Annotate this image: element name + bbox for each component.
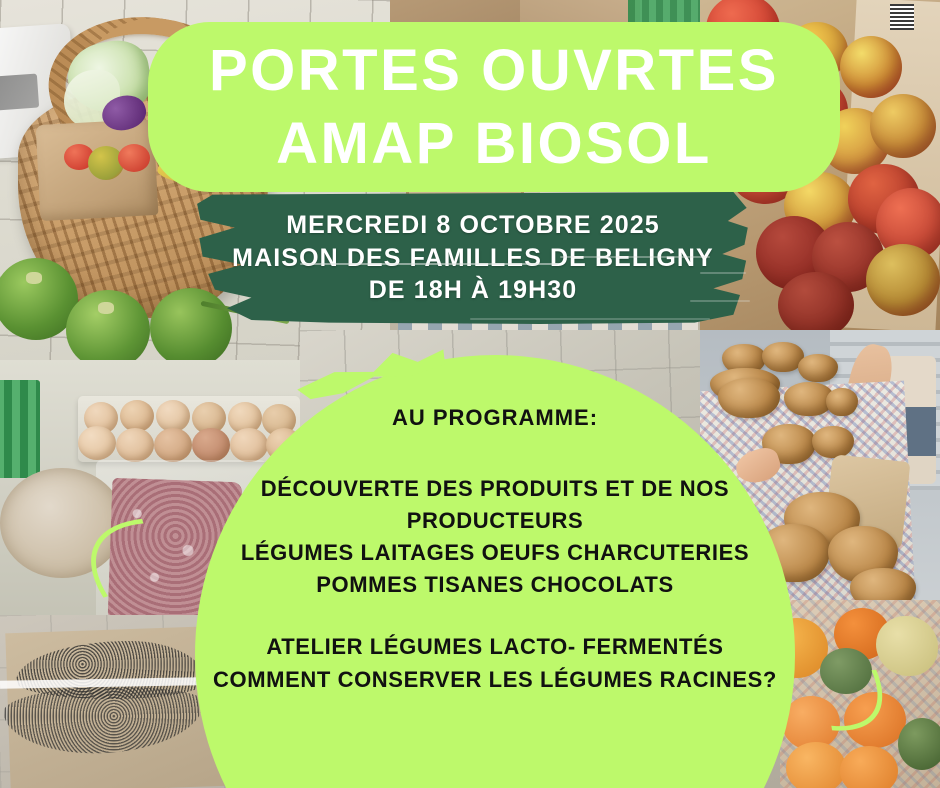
event-time: DE 18H À 19H30	[369, 275, 578, 306]
event-venue: MAISON DES FAMILLES DE BELIGNY	[232, 243, 714, 274]
title-box: PORTES OUVRTES AMAP BIOSOL	[148, 22, 840, 192]
poster-canvas: PORTES OUVRTES AMAP BIOSOL MERCREDI 8 OC…	[0, 0, 940, 788]
programme-line: POMMES TISANES CHOCOLATS	[195, 569, 795, 601]
title-line-1: PORTES OUVRTES	[209, 34, 779, 107]
banner-streak-decoration	[560, 256, 710, 258]
banner-streak-decoration	[700, 272, 746, 274]
workshop-line: ATELIER LÉGUMES LACTO- FERMENTÉS	[195, 631, 795, 663]
programme-line: PRODUCTEURS	[195, 505, 795, 537]
event-date: MERCREDI 8 OCTOBRE 2025	[286, 210, 660, 241]
programme-line: LÉGUMES LAITAGES OEUFS CHARCUTERIES	[195, 537, 795, 569]
programme-heading: AU PROGRAMME:	[195, 405, 795, 431]
title-line-2: AMAP BIOSOL	[276, 107, 712, 180]
programme-section: AU PROGRAMME: DÉCOUVERTE DES PRODUITS ET…	[195, 405, 795, 696]
banner-streak-decoration	[690, 300, 750, 302]
programme-line: DÉCOUVERTE DES PRODUITS ET DE NOS	[195, 473, 795, 505]
event-details-banner: MERCREDI 8 OCTOBRE 2025 MAISON DES FAMIL…	[196, 192, 750, 324]
banner-streak-decoration	[300, 263, 558, 265]
banner-streak-decoration	[470, 318, 710, 320]
workshop-line: COMMENT CONSERVER LES LÉGUMES RACINES?	[195, 664, 795, 696]
